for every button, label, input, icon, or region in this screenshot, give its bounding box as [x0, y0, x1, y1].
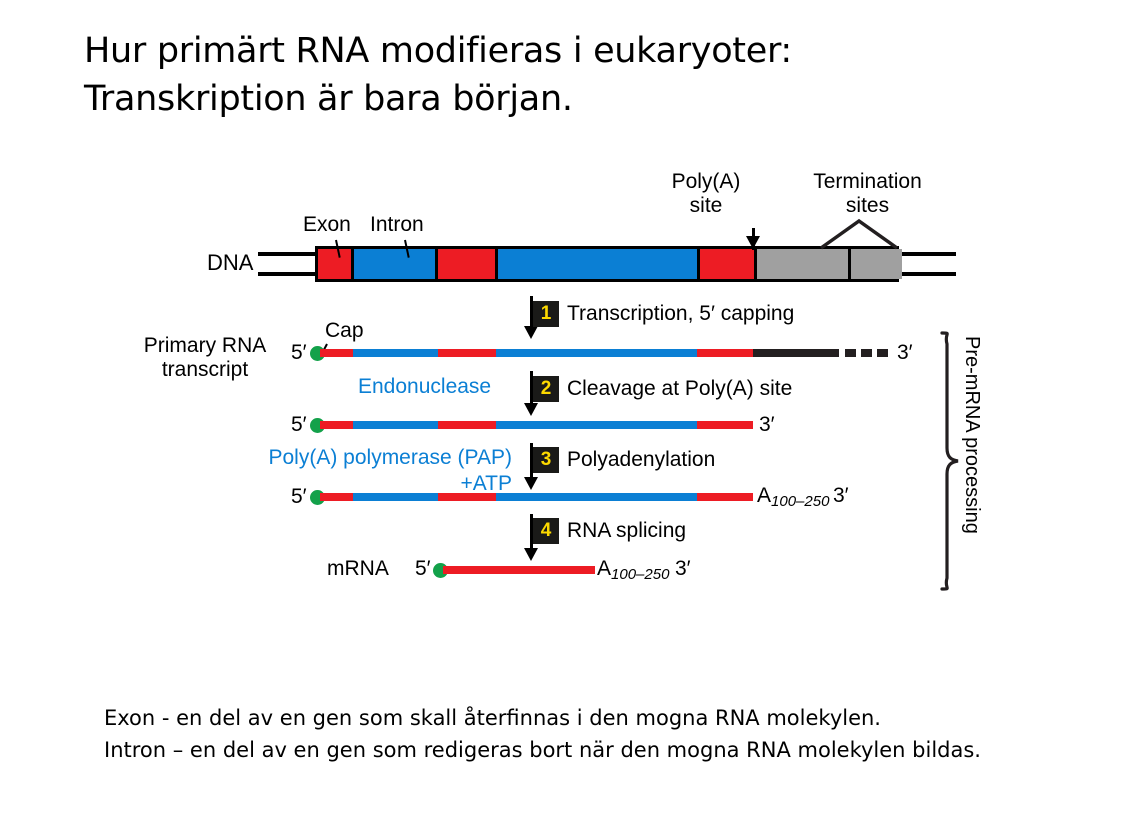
- mrna-polya-letter: A: [597, 557, 611, 580]
- dna-boundary-4: [697, 249, 700, 279]
- step-1-label: Transcription, 5′ capping: [567, 302, 794, 326]
- cleaved-intron-2: [496, 421, 697, 429]
- dna-intron-2: [498, 249, 700, 279]
- dna-exon-3: [700, 249, 756, 279]
- dna-boundary-1: [351, 249, 354, 279]
- polyadenylated-intron-2: [496, 493, 697, 501]
- primary-exon-1: [320, 349, 353, 357]
- cleaved-5prime-label: 5′: [291, 413, 307, 437]
- mrna-coding-body: [443, 566, 595, 574]
- dna-strand-left-bottom: [258, 272, 318, 276]
- cleaved-exon-3: [697, 421, 753, 429]
- cap-label: Cap: [325, 319, 364, 343]
- dna-exon-1: [318, 249, 351, 279]
- dna-intron-1: [351, 249, 438, 279]
- polyadenylated-exon-3: [697, 493, 753, 501]
- primary-exon-3: [697, 349, 753, 357]
- intron-label: Intron: [370, 213, 424, 237]
- pre-mrna-processing-label: Pre-mRNA processing: [960, 336, 983, 534]
- mrna-5prime-label: 5′: [415, 557, 431, 581]
- polyadenylated-polya-tail: A100–250: [757, 484, 829, 510]
- primary-3prime-label: 3′: [897, 341, 913, 365]
- dna-downstream-1: [756, 249, 850, 279]
- primary-intron-2: [496, 349, 697, 357]
- dna-boundary-6: [848, 249, 851, 279]
- glossary-caption: Exon - en del av en gen som skall återfi…: [104, 703, 1084, 766]
- primary-exon-2: [438, 349, 496, 357]
- primary-intron-1: [353, 349, 438, 357]
- step-2-badge: 2: [533, 376, 559, 402]
- primary-5prime-label: 5′: [291, 341, 307, 365]
- step-3-badge: 3: [533, 447, 559, 473]
- dna-strand-left-top: [258, 252, 318, 256]
- polyadenylated-exon-1: [320, 493, 353, 501]
- primary-dash-3: [877, 349, 888, 357]
- cleaved-3prime-label: 3′: [759, 413, 775, 437]
- dna-polya-boundary: [754, 249, 757, 279]
- dna-strand-right-top: [896, 252, 956, 256]
- dna-label: DNA: [207, 250, 253, 275]
- cleaved-intron-1: [353, 421, 438, 429]
- dna-downstream-2: [850, 249, 902, 279]
- step-4-badge: 4: [533, 518, 559, 544]
- termination-roof-icon: [818, 218, 900, 250]
- primary-downstream: [753, 349, 839, 357]
- rna-processing-diagram: DNA Exon Intron Poly(A) sit: [0, 0, 1140, 700]
- mrna-polya-subscript: 100–250: [611, 566, 669, 583]
- polya-tail-subscript: 100–250: [771, 493, 829, 510]
- step-2-enzyme-label: Endonuclease: [358, 375, 491, 399]
- primary-dash-1: [845, 349, 856, 357]
- dna-boundary-2: [435, 249, 438, 279]
- polyadenylated-3prime-label: 3′: [833, 484, 849, 508]
- polya-site-arrow-head: [746, 236, 760, 249]
- step-2-label: Cleavage at Poly(A) site: [567, 377, 792, 401]
- termination-sites-label: Termination sites: [790, 170, 945, 218]
- step-3-label: Polyadenylation: [567, 448, 715, 472]
- step-3-arrow-head: [524, 477, 538, 490]
- dna-gene-bar: [315, 246, 899, 282]
- cleaved-exon-1: [320, 421, 353, 429]
- dna-boundary-3: [495, 249, 498, 279]
- cleaved-exon-2: [438, 421, 496, 429]
- step-1-arrow-head: [524, 326, 538, 339]
- polyadenylated-exon-2: [438, 493, 496, 501]
- dna-exon-2: [438, 249, 498, 279]
- slide-canvas: Hur primärt RNA modifieras i eukaryoter:…: [0, 0, 1140, 824]
- step-4-label: RNA splicing: [567, 519, 686, 543]
- mrna-3prime-label: 3′: [675, 557, 691, 581]
- primary-dash-2: [861, 349, 872, 357]
- dna-strand-right-bottom: [896, 272, 956, 276]
- step-4-arrow-head: [524, 548, 538, 561]
- polyadenylated-5prime-label: 5′: [291, 485, 307, 509]
- mrna-polya-tail: A100–250: [597, 557, 669, 583]
- step-1-badge: 1: [533, 301, 559, 327]
- mrna-label: mRNA: [327, 557, 389, 581]
- polyadenylated-intron-1: [353, 493, 438, 501]
- polya-tail-letter: A: [757, 484, 771, 507]
- exon-label: Exon: [303, 213, 351, 237]
- pre-mrna-processing-brace: [938, 330, 962, 592]
- step-2-arrow-head: [524, 403, 538, 416]
- primary-transcript-label: Primary RNA transcript: [130, 334, 280, 382]
- polya-site-label: Poly(A) site: [646, 170, 766, 218]
